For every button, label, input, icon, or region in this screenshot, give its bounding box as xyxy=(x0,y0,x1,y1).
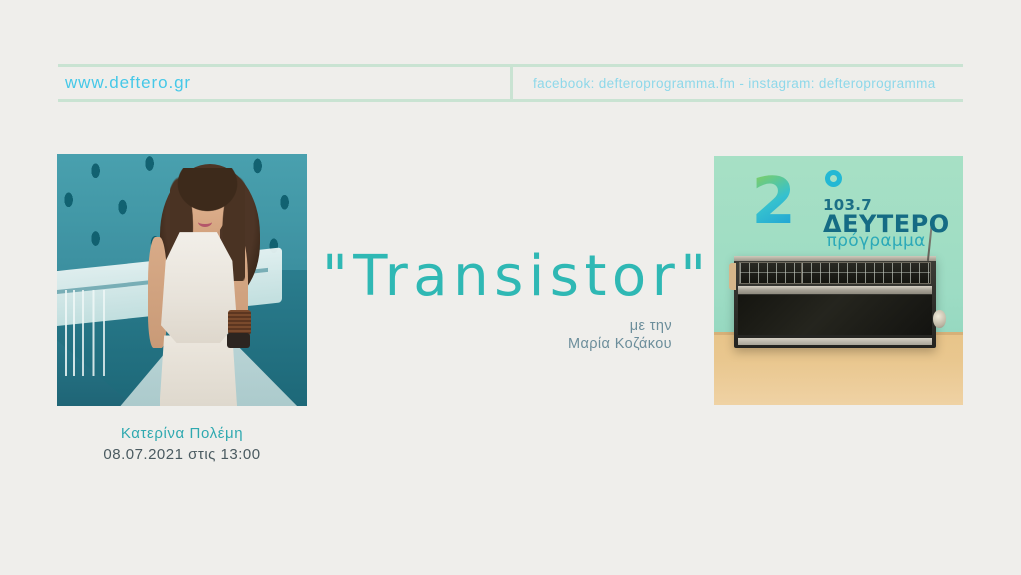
radio-top-edge xyxy=(734,256,936,262)
logo-number-two: 2 xyxy=(751,170,796,234)
transistor-radio xyxy=(734,256,936,348)
radio-speaker-grille xyxy=(738,295,932,335)
radio-tuning-knob xyxy=(933,310,945,327)
radio-chrome-band-top xyxy=(738,286,932,294)
guest-caption: Κατερίνα Πολέμη 08.07.2021 στις 13:00 xyxy=(57,423,307,465)
radio-photo: 2 103.7 ΔΕΥΤΕΡΟ πρόγραμμα xyxy=(714,156,963,405)
social-handles-text[interactable]: facebook: defteroprogramma.fm - instagra… xyxy=(533,76,936,91)
guest-name: Κατερίνα Πολέμη xyxy=(57,423,307,444)
logo-station-subtitle: πρόγραμμα xyxy=(827,231,926,251)
radio-chrome-band-bottom xyxy=(738,338,932,345)
byline-host-name: Μαρία Κοζάκου xyxy=(372,335,672,353)
wrist-watch xyxy=(227,333,250,348)
white-trousers xyxy=(160,335,238,406)
header-left-section: www.deftero.gr xyxy=(58,67,510,99)
dial-pane-right xyxy=(802,263,930,283)
host-byline: με την Μαρία Κοζάκου xyxy=(372,317,672,353)
logo-degree-circle-icon xyxy=(825,170,842,187)
show-title: "Transistor" xyxy=(322,249,711,305)
dial-pane-left xyxy=(740,263,802,283)
portrait-figure xyxy=(57,154,307,406)
site-url-link[interactable]: www.deftero.gr xyxy=(65,73,191,93)
guest-portrait-photo xyxy=(57,154,307,406)
byline-prefix: με την xyxy=(630,318,672,334)
station-logo: 2 103.7 ΔΕΥΤΕΡΟ πρόγραμμα xyxy=(751,168,930,250)
header-bar: www.deftero.gr facebook: defteroprogramm… xyxy=(58,64,963,102)
beaded-bracelet xyxy=(228,310,251,335)
guest-datetime: 08.07.2021 στις 13:00 xyxy=(57,444,307,465)
radio-carry-handle xyxy=(729,263,735,290)
radio-tuning-dial xyxy=(739,262,931,284)
header-right-section: facebook: defteroprogramma.fm - instagra… xyxy=(513,67,963,99)
